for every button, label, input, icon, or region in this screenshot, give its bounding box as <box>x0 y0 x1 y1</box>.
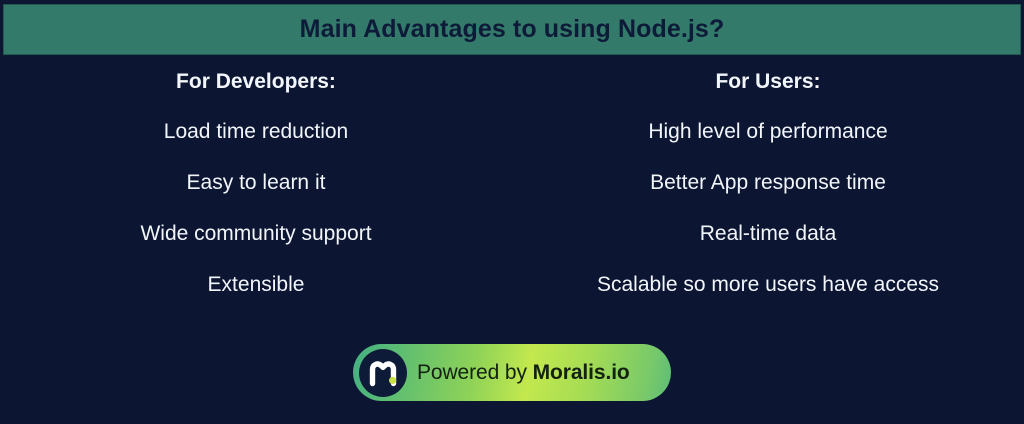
list-item: High level of performance <box>648 120 887 144</box>
header-banner: Main Advantages to using Node.js? <box>3 4 1021 55</box>
column-developers: For Developers: Load time reduction Easy… <box>0 55 512 320</box>
list-item: Load time reduction <box>164 120 348 144</box>
slide-root: Main Advantages to using Node.js? For De… <box>0 0 1024 424</box>
powered-by-badge[interactable]: Powered by Moralis.io <box>353 344 671 401</box>
list-item: Wide community support <box>140 222 371 246</box>
list-item: Easy to learn it <box>187 171 326 195</box>
list-item: Better App response time <box>650 171 886 195</box>
badge-prefix: Powered by <box>417 361 533 384</box>
badge-label: Powered by Moralis.io <box>417 361 630 385</box>
badge-container: Powered by Moralis.io <box>0 344 1024 401</box>
column-heading-users: For Users: <box>715 70 820 94</box>
list-item: Scalable so more users have access <box>597 273 939 297</box>
column-users: For Users: High level of performance Bet… <box>512 55 1024 320</box>
page-title: Main Advantages to using Node.js? <box>300 15 725 44</box>
column-heading-developers: For Developers: <box>176 70 336 94</box>
badge-brand: Moralis.io <box>533 361 630 384</box>
list-item: Real-time data <box>700 222 837 246</box>
moralis-m-logo-icon <box>359 349 407 397</box>
advantages-columns: For Developers: Load time reduction Easy… <box>0 55 1024 320</box>
list-item: Extensible <box>208 273 305 297</box>
